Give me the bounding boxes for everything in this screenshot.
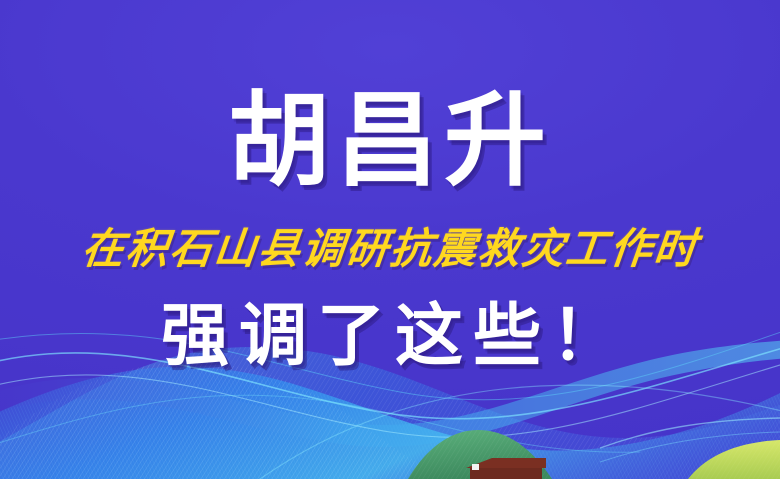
poster-title-emphasis: 强调了这些！ [0,297,780,375]
poster-title-subtitle: 在积石山县调研抗震救灾工作时 [0,222,780,276]
poster-title-main: 胡昌升 [0,86,780,196]
poster-canvas: 胡昌升 在积石山县调研抗震救灾工作时 强调了这些！ [0,0,780,479]
title-block: 胡昌升 在积石山县调研抗震救灾工作时 强调了这些！ [0,0,780,479]
